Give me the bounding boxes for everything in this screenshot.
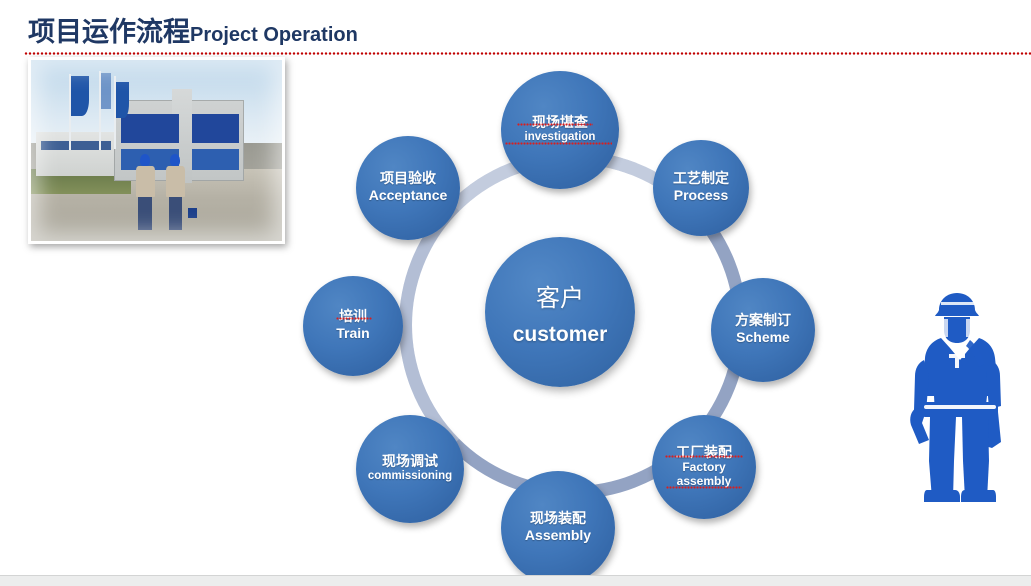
cycle-node-investigation[interactable]: 现场堪查 investigation	[501, 71, 619, 189]
slide-title-area: 项目运作流程Project Operation	[0, 16, 1031, 58]
cycle-node-factory-assembly-label-english-2: assembly	[677, 475, 732, 488]
cycle-node-commissioning-label-chinese: 现场调试	[382, 455, 438, 471]
slide-canvas: 项目运作流程Project Operation	[0, 0, 1031, 586]
factory-photo	[28, 57, 285, 244]
cycle-node-commissioning-label-english: commissioning	[368, 470, 452, 483]
cycle-node-investigation-label-english: investigation	[525, 131, 596, 144]
cycle-center-node-customer[interactable]: 客户 customer	[485, 237, 635, 387]
cycle-center-label-chinese: 客户	[536, 278, 584, 313]
cycle-node-process[interactable]: 工艺制定 Process	[653, 140, 749, 236]
cycle-node-assembly-label-chinese: 现场装配	[530, 512, 586, 528]
cycle-node-process-label-chinese: 工艺制定	[673, 172, 729, 188]
worker-silhouette-graphic	[908, 284, 1012, 512]
cycle-node-factory-assembly-label-english: Factory	[682, 461, 725, 474]
cycle-node-process-label-english: Process	[674, 188, 728, 204]
cycle-node-assembly[interactable]: 现场装配 Assembly	[501, 471, 615, 585]
cycle-node-train[interactable]: 培训 Train	[303, 276, 403, 376]
cycle-center-label-english: customer	[513, 323, 608, 347]
cycle-node-factory-assembly[interactable]: 工厂装配 Factory assembly	[652, 415, 756, 519]
page-title-chinese: 项目运作流程	[28, 17, 190, 48]
cycle-node-factory-assembly-label-chinese: 工厂装配	[676, 446, 732, 462]
cycle-node-investigation-label-chinese: 现场堪查	[532, 116, 588, 132]
title-underline-dotted-rule	[24, 52, 1031, 55]
cycle-node-scheme-label-chinese: 方案制订	[735, 314, 791, 330]
cycle-node-train-label-chinese: 培训	[339, 310, 367, 326]
cycle-node-assembly-label-english: Assembly	[525, 528, 591, 544]
factory-photo-image	[31, 60, 282, 241]
cycle-node-scheme[interactable]: 方案制订 Scheme	[711, 278, 815, 382]
process-cycle-diagram: 客户 customer 现场堪查 investigation 工艺制定 Proc…	[290, 62, 830, 562]
photo-soft-edge-vignette	[31, 60, 282, 241]
cycle-node-acceptance-label-chinese: 项目验收	[380, 172, 436, 188]
cycle-node-acceptance[interactable]: 项目验收 Acceptance	[356, 136, 460, 240]
cycle-node-scheme-label-english: Scheme	[736, 330, 790, 346]
cycle-node-acceptance-label-english: Acceptance	[369, 188, 448, 204]
slide-bottom-edge	[0, 575, 1031, 586]
page-title-english: Project Operation	[190, 24, 358, 46]
cycle-node-commissioning[interactable]: 现场调试 commissioning	[356, 415, 464, 523]
cycle-node-train-label-english: Train	[336, 326, 369, 342]
page-title: 项目运作流程Project Operation	[28, 16, 358, 54]
